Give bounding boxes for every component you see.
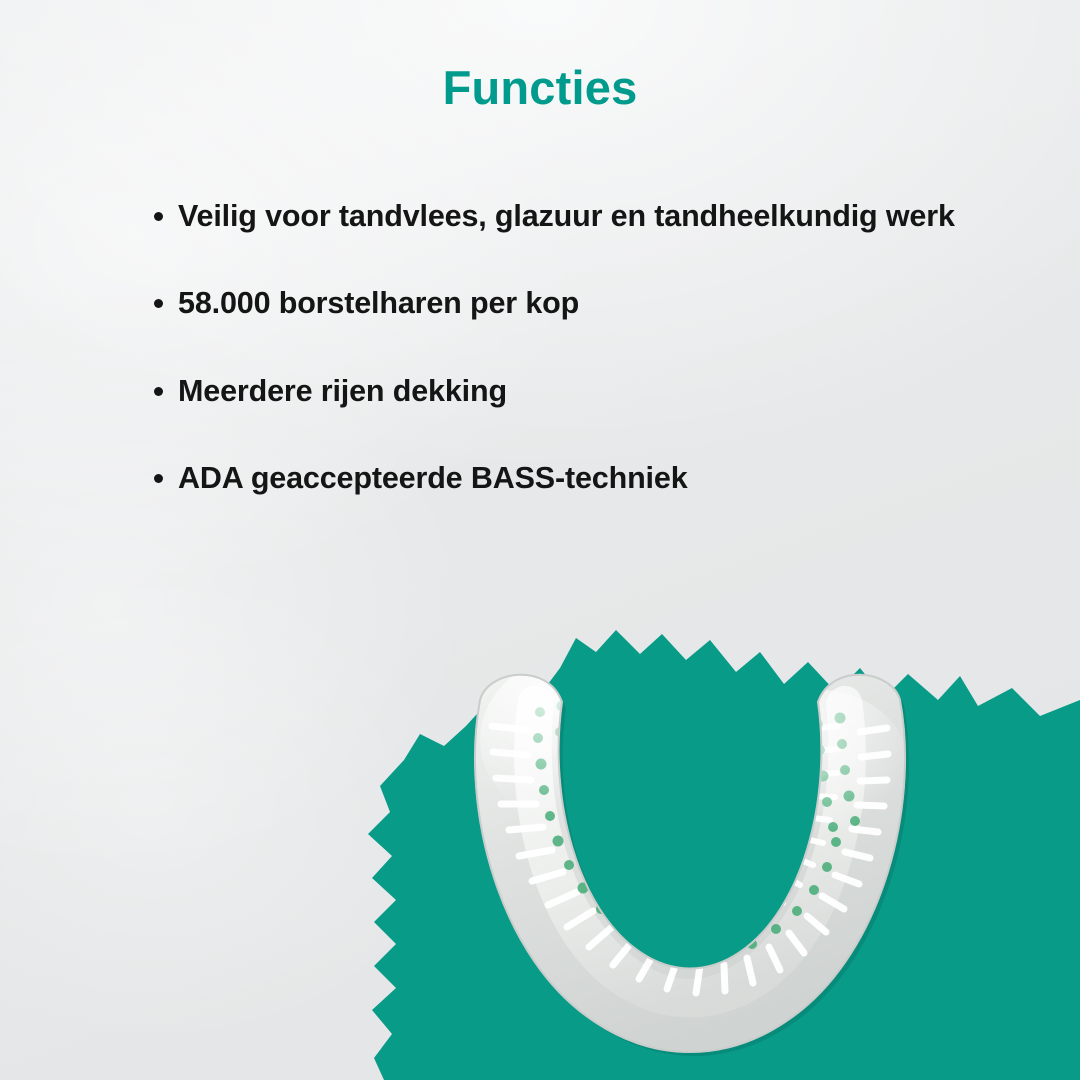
feature-list: Veilig voor tandvlees, glazuur en tandhe… xyxy=(150,196,1050,498)
page-title: Functies xyxy=(0,62,1080,114)
bullet-icon xyxy=(154,387,163,396)
feature-label: 58.000 borstelharen per kop xyxy=(178,286,579,320)
bullet-icon xyxy=(154,299,163,308)
list-item: 58.000 borstelharen per kop xyxy=(150,283,1050,323)
feature-label: ADA geaccepteerde BASS-techniek xyxy=(178,461,688,495)
feature-label: Meerdere rijen dekking xyxy=(178,374,507,408)
feature-card: Functies Veilig voor tandvlees, glazuur … xyxy=(0,0,1080,1080)
list-item: ADA geaccepteerde BASS-techniek xyxy=(150,458,1050,498)
product-image-u-shaped-toothbrush-head xyxy=(440,660,940,1080)
bullet-icon xyxy=(154,212,163,221)
bullet-icon xyxy=(154,474,163,483)
list-item: Veilig voor tandvlees, glazuur en tandhe… xyxy=(150,196,1050,236)
scalloped-teal-blob xyxy=(0,0,1080,1080)
background-wash xyxy=(0,0,1080,1080)
list-item: Meerdere rijen dekking xyxy=(150,371,1050,411)
feature-label: Veilig voor tandvlees, glazuur en tandhe… xyxy=(178,199,955,233)
